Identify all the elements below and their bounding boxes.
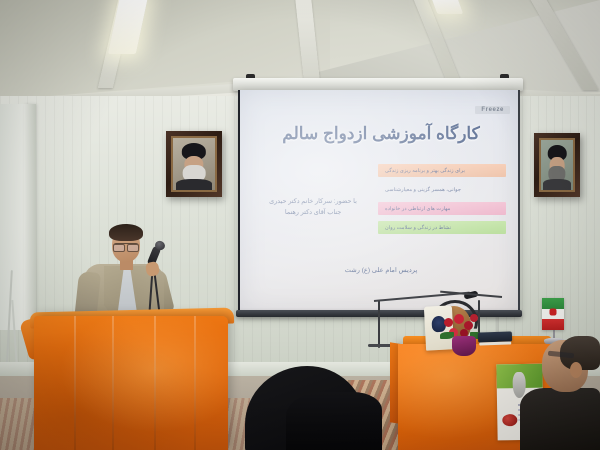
flower-icon: [444, 318, 453, 327]
presenter-hair: [109, 224, 143, 241]
projection-screen: Freeze کارگاه آموزشی ازدواج سالم برای زن…: [238, 90, 520, 314]
portrait-image: [539, 138, 575, 192]
speaker-line: جناب آقای دکتر رهنما: [252, 207, 374, 218]
picture-frame: [534, 133, 580, 197]
attendee-in-chador: [286, 392, 382, 450]
picture-frame: [166, 131, 222, 197]
drape-fold: [112, 316, 114, 450]
portrait-image: [171, 136, 217, 192]
poster-fruit-graphic: [502, 414, 517, 426]
presentation-slide: Freeze کارگاه آموزشی ازدواج سالم برای زن…: [248, 104, 514, 302]
flower-vase: [452, 336, 476, 356]
drape-fold: [154, 316, 156, 450]
flower-icon: [470, 314, 478, 322]
boom-mic-stand: [378, 300, 380, 348]
iranian-flag: [542, 298, 564, 330]
boom-mic-base: [368, 344, 392, 347]
slide-speakers: با حضور: سرکار خانم دکتر حیدری جناب آقای…: [252, 196, 374, 218]
glasses-icon: [113, 243, 139, 249]
drape-fold: [74, 316, 76, 450]
slide-bullet-item: نشاط در زندگی و سلامت روان: [378, 221, 506, 234]
podium: [34, 316, 228, 450]
seated-attendee-body: [520, 388, 600, 450]
book: [478, 331, 512, 342]
portrait-khamenei: [534, 133, 580, 197]
portrait-khomeini: [166, 131, 222, 197]
poster-ribbon-graphic: [512, 372, 525, 398]
door-frame: [0, 104, 26, 330]
slide-title: کارگاه آموزشی ازدواج سالم: [260, 124, 502, 144]
robe-shape: [176, 179, 213, 190]
speaker-line: با حضور: سرکار خانم دکتر حیدری: [252, 196, 374, 207]
flag-stripe-green: [542, 298, 564, 309]
slide-venue-line: پردیس امام علی (ع) رشت: [248, 266, 514, 274]
seated-attendee-ear: [570, 362, 582, 378]
photo-scene: Freeze کارگاه آموزشی ازدواج سالم برای زن…: [0, 0, 600, 450]
slide-bullet-item: جوانی، همسر گزینی و معیارشناسی: [378, 183, 506, 196]
flower-icon: [454, 314, 464, 324]
slide-bullet-list: برای زندگی بهتر و برنامه ریزی زندگی جوان…: [378, 164, 506, 240]
ceiling-light-icon: [431, 0, 464, 14]
robe-shape: [543, 179, 571, 190]
slide-bullet-item: برای زندگی بهتر و برنامه ریزی زندگی: [378, 164, 506, 177]
slide-bullet-item: مهارت های ارتباطی در خانواده: [378, 202, 506, 215]
flag-emblem-icon: [550, 309, 557, 316]
flag-stripe-red: [542, 319, 564, 330]
podium-highlight: [34, 316, 228, 450]
freeze-badge: Freeze: [475, 106, 510, 114]
door-frame-edge: [24, 104, 36, 324]
drape-fold: [194, 316, 196, 450]
